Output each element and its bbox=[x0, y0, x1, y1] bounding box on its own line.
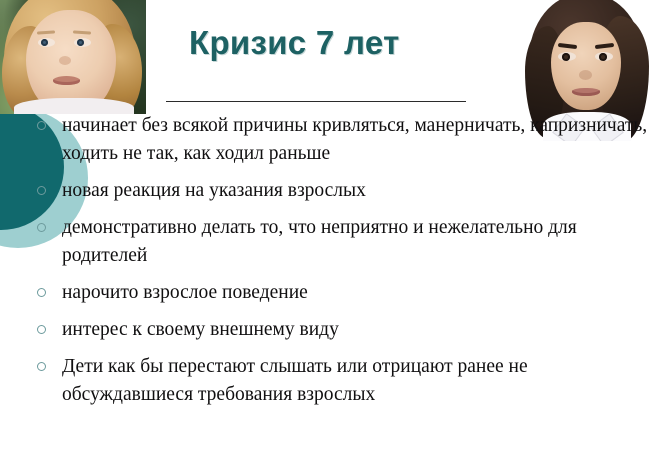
bullet-circle-icon bbox=[37, 362, 46, 371]
list-item-text: демонстративно делать то, что неприятно … bbox=[62, 214, 622, 270]
bullet-list: начинает без всякой причины кривляться, … bbox=[0, 112, 650, 418]
bullet-circle-icon bbox=[37, 288, 46, 297]
eye-left bbox=[38, 38, 55, 47]
slide-title: Кризис 7 лет bbox=[189, 24, 400, 62]
bullet-circle-icon bbox=[37, 186, 46, 195]
eye-right bbox=[74, 38, 91, 47]
nose bbox=[59, 56, 71, 65]
list-item-text: нарочито взрослое поведение bbox=[62, 279, 622, 307]
list-item-text: начинает без всякой причины кривляться, … bbox=[62, 112, 650, 168]
list-item: интерес к своему внешнему виду bbox=[0, 316, 650, 344]
bullet-circle-icon bbox=[37, 121, 46, 130]
blonde-girl-photo bbox=[0, 0, 146, 114]
mouth bbox=[53, 76, 80, 85]
list-item-text: интерес к своему внешнему виду bbox=[62, 316, 622, 344]
eye-left bbox=[558, 52, 576, 61]
title-divider bbox=[166, 101, 466, 102]
eye-right bbox=[595, 52, 613, 61]
list-item: начинает без всякой причины кривляться, … bbox=[0, 112, 650, 168]
list-item: новая реакция на указания взрослых bbox=[0, 177, 650, 205]
bullet-circle-icon bbox=[37, 325, 46, 334]
face-shape bbox=[551, 22, 621, 110]
list-item: Дети как бы перестают слышать или отрица… bbox=[0, 353, 650, 409]
list-item-text: новая реакция на указания взрослых bbox=[62, 177, 622, 205]
list-item: нарочито взрослое поведение bbox=[0, 279, 650, 307]
nose bbox=[579, 70, 592, 80]
list-item: демонстративно делать то, что неприятно … bbox=[0, 214, 650, 270]
mouth bbox=[572, 88, 600, 96]
bullet-circle-icon bbox=[37, 223, 46, 232]
list-item-text: Дети как бы перестают слышать или отрица… bbox=[62, 353, 650, 409]
presentation-slide: Кризис 7 лет начинает без всякой причины… bbox=[0, 0, 650, 457]
